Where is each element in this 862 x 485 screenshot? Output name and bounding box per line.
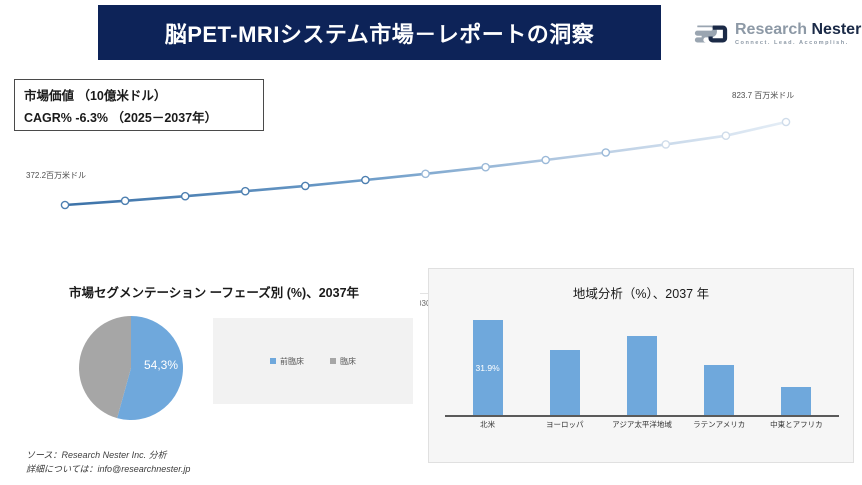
regional-panel-title: 地域分析（%）、2037 年 (429, 283, 853, 302)
line-data-point (482, 164, 489, 171)
line-data-point (422, 170, 429, 177)
legend-label: 臨床 (340, 356, 356, 367)
line-data-point (242, 188, 249, 195)
bar-category-label: 北米 (480, 419, 495, 430)
page-title: 脳PET-MRIシステム市場－レポートの洞察 (165, 17, 595, 49)
header-banner: 脳PET-MRIシステム市場－レポートの洞察 (98, 5, 661, 60)
line-data-point (542, 156, 549, 163)
market-forecast-line-chart: 372.2百万米ドル 823.7 百万米ドル 2024年2025年2026年20… (0, 60, 862, 260)
bar-column (781, 387, 811, 415)
line-data-point (362, 176, 369, 183)
contact-line: 詳細については：info@researchnester.jp (26, 463, 190, 477)
logo-name: Research Nester (735, 22, 861, 38)
pie-legend-item: 前臨床 (270, 356, 304, 367)
bar-column (704, 365, 734, 415)
line-data-point (782, 118, 789, 125)
bar-category-label: アジア太平洋地域 (612, 419, 672, 430)
legend-label: 前臨床 (280, 356, 304, 367)
pie-legend-item: 臨床 (330, 356, 356, 367)
brand-logo: Research Nester Connect. Lead. Accomplis… (694, 14, 854, 54)
logo-name-bold: Nester (812, 21, 862, 38)
bar-column (627, 336, 657, 415)
regional-analysis-panel: 地域分析（%）、2037 年 31.9% 北米ヨーロッパアジア太平洋地域ラテンア… (428, 268, 854, 463)
segmentation-panel-title: 市場セグメンテーション ーフェーズ別 (%)、2037年 (8, 282, 420, 301)
legend-swatch-icon (330, 358, 336, 364)
source-footer: ソース：Research Nester Inc. 分析 詳細については：info… (26, 449, 190, 477)
line-data-point (662, 141, 669, 148)
line-data-point (302, 182, 309, 189)
bar-category-label: ヨーロッパ (546, 419, 584, 430)
legend-swatch-icon (270, 358, 276, 364)
pie-legend: 前臨床臨床 (213, 318, 413, 404)
segmentation-panel: 市場セグメンテーション ーフェーズ別 (%)、2037年 54,3% 前臨床臨床 (8, 268, 420, 478)
line-data-point (602, 149, 609, 156)
line-start-value-label: 372.2百万米ドル (26, 170, 86, 181)
pie-slice-value-label: 54,3% (144, 358, 178, 372)
line-data-point (122, 197, 129, 204)
phase-pie-chart: 54,3% (56, 308, 206, 428)
bar-column: 31.9% (473, 320, 503, 415)
bar-chart-category-labels: 北米ヨーロッパアジア太平洋地域ラテンアメリカ中東とアフリカ (449, 419, 835, 435)
logo-text: Research Nester Connect. Lead. Accomplis… (735, 22, 861, 47)
pie-svg (56, 308, 206, 428)
region-bar-chart: 31.9% (449, 311, 835, 415)
bar-chart-baseline (445, 415, 839, 417)
source-line: ソース：Research Nester Inc. 分析 (26, 449, 190, 463)
logo-mark-icon (694, 21, 728, 47)
bar-value-label: 31.9% (476, 363, 500, 373)
bar-category-label: ラテンアメリカ (693, 419, 745, 430)
bar-category-label: 中東とアフリカ (770, 419, 823, 430)
bar-column (550, 350, 580, 415)
line-data-point (722, 132, 729, 139)
logo-tagline: Connect. Lead. Accomplish. (735, 41, 861, 47)
line-data-point (182, 193, 189, 200)
line-data-point (61, 201, 68, 208)
line-end-value-label: 823.7 百万米ドル (732, 90, 794, 101)
report-infographic: 脳PET-MRIシステム市場－レポートの洞察 Research Nester C… (0, 0, 862, 485)
logo-name-light: Research (735, 21, 812, 38)
